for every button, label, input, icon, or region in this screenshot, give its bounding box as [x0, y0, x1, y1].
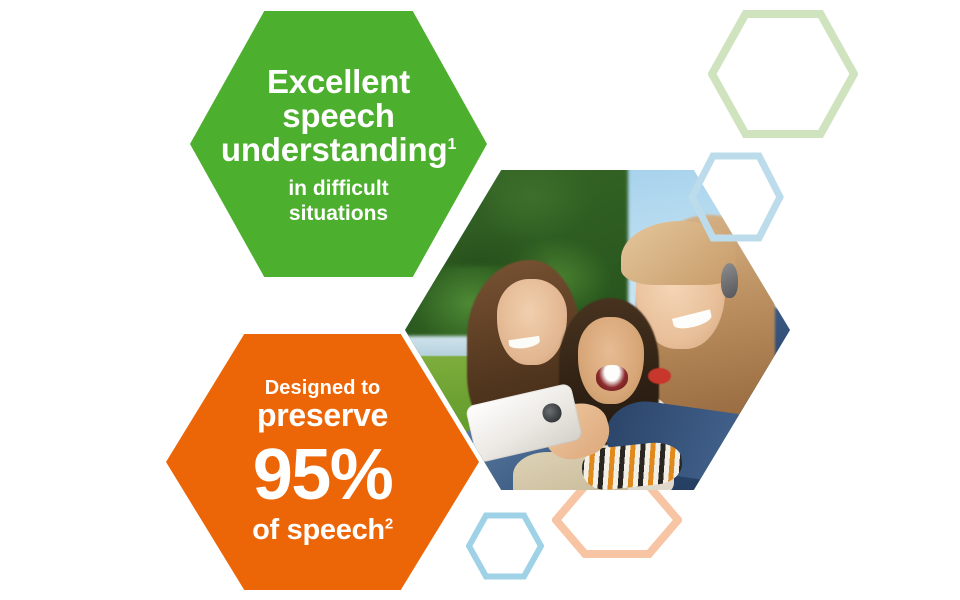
- green-headline-footnote-marker: 1: [447, 136, 456, 153]
- phone-camera-lens: [541, 402, 563, 424]
- outline-hexagon-blue-upper: [688, 152, 784, 242]
- green-headline-line-1: Excellent: [267, 65, 410, 99]
- green-subline-2: situations: [289, 202, 388, 227]
- promo-banner: Excellent speech understanding1 in diffi…: [0, 0, 960, 600]
- orange-footer: of speech2: [252, 516, 393, 546]
- outline-hexagon-blue-lower: [466, 512, 544, 580]
- orange-footer-footnote-marker: 2: [385, 516, 393, 533]
- orange-emphasis: preserve: [257, 399, 388, 432]
- orange-footer-text: of speech: [252, 514, 385, 546]
- outline-hexagon-green: [708, 10, 858, 138]
- outline-hexagon-peach: [552, 482, 682, 558]
- green-headline-line-3-text: understanding: [221, 131, 448, 168]
- orange-statistic-value: 95%: [253, 440, 393, 511]
- orange-kicker: Designed to: [265, 378, 381, 398]
- green-headline-line-3: understanding1: [221, 133, 456, 167]
- green-message-hexagon: Excellent speech understanding1 in diffi…: [190, 11, 487, 277]
- girl-middle-mouth: [596, 365, 629, 391]
- girl-left-face: [497, 279, 566, 365]
- green-headline-line-2: speech: [282, 99, 395, 133]
- green-hexagon-text: Excellent speech understanding1 in diffi…: [190, 11, 487, 277]
- green-subline-1: in difficult: [288, 177, 388, 202]
- hearing-aid-icon: [721, 263, 738, 298]
